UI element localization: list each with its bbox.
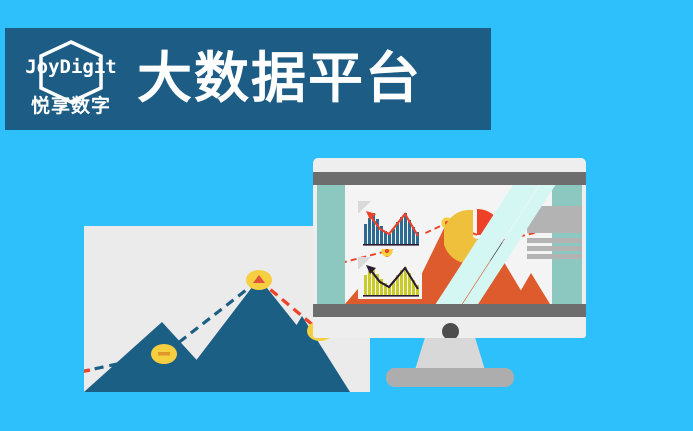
power-indicator[interactable] (442, 323, 459, 340)
placeholder-line (527, 246, 582, 251)
blue-bar-chart-svg (358, 201, 422, 249)
monitor-screen (317, 185, 582, 304)
header-banner: JoyDigit 悦享数字 大数据平台 (5, 28, 491, 130)
monitor-top-bar (313, 172, 586, 185)
bar-chart-card-blue (358, 201, 422, 249)
placeholder-line (527, 238, 582, 243)
desktop-monitor (313, 158, 586, 388)
chart-marker-2 (246, 270, 272, 290)
poster-canvas: JoyDigit 悦享数字 大数据平台 (0, 0, 693, 431)
page-title: 大数据平台 (137, 49, 422, 107)
monitor-bottom-bar (313, 304, 586, 317)
monitor-stand-base (386, 368, 514, 387)
olive-baseline (363, 295, 419, 297)
chart-marker-1 (151, 344, 177, 364)
trend-dash-start (80, 370, 90, 372)
placeholder-line (527, 254, 582, 259)
bar-chart-card-olive (358, 257, 422, 299)
brand-logo: JoyDigit 悦享数字 (17, 34, 125, 124)
olive-bar-chart-svg (358, 257, 422, 299)
monitor-stand-neck (415, 338, 485, 370)
logo-wordmark: JoyDigit (17, 58, 125, 77)
logo-subtitle: 悦享数字 (17, 96, 125, 116)
blue-baseline (363, 244, 419, 246)
